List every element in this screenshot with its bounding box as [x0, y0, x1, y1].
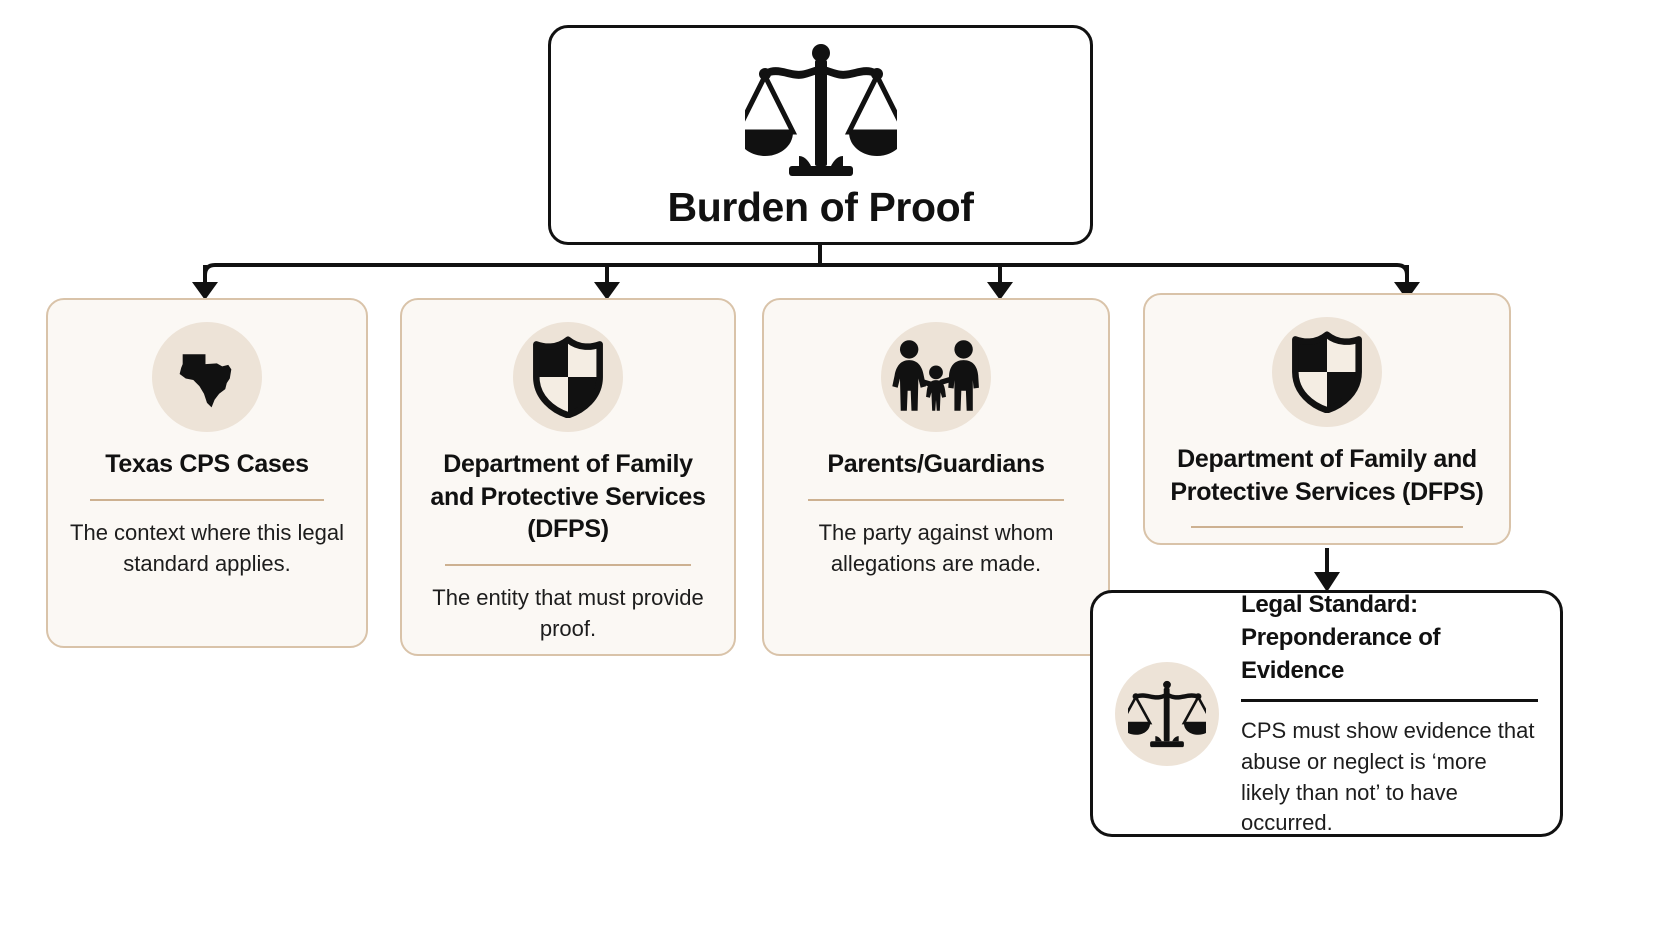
scales-of-justice-icon	[741, 40, 901, 180]
node-card-parents-guardians[interactable]: Parents/Guardians The party against whom…	[762, 298, 1110, 656]
node-card-description: The entity that must provide proof.	[422, 582, 714, 644]
scales-of-justice-icon	[1115, 662, 1219, 766]
leaf-card-body: Legal Standard: Preponderance of Evidenc…	[1241, 588, 1538, 840]
leaf-card-title: Legal Standard: Preponderance of Evidenc…	[1241, 588, 1538, 687]
node-card-title: Department of Family and Protective Serv…	[422, 448, 714, 546]
node-card-texas-cps-cases[interactable]: Texas CPS Cases The context where this l…	[46, 298, 368, 648]
leaf-card-legal-standard[interactable]: Legal Standard: Preponderance of Evidenc…	[1090, 590, 1563, 837]
node-card-description: The party against whom allegations are m…	[784, 517, 1088, 579]
card-divider	[808, 499, 1063, 501]
texas-state-map-icon	[152, 322, 262, 432]
quartered-shield-icon	[1272, 317, 1382, 427]
root-node[interactable]: Burden of Proof	[548, 25, 1093, 245]
quartered-shield-icon	[513, 322, 623, 432]
leaf-card-description: CPS must show evidence that abuse or neg…	[1241, 716, 1538, 839]
node-card-title: Department of Family and Protective Serv…	[1165, 443, 1489, 508]
card-divider	[1191, 526, 1463, 528]
family-group-icon	[881, 322, 991, 432]
node-card-title: Parents/Guardians	[827, 448, 1044, 481]
card-divider	[90, 499, 324, 501]
diagram-canvas: Burden of Proof Texas CPS Cases The cont…	[0, 0, 1672, 941]
card-divider	[445, 564, 690, 566]
node-card-title: Texas CPS Cases	[105, 448, 309, 481]
root-node-title: Burden of Proof	[667, 184, 973, 231]
leaf-card-divider	[1241, 699, 1538, 702]
node-card-description: The context where this legal standard ap…	[68, 517, 346, 579]
leaf-icon-wrap	[1115, 662, 1219, 766]
node-card-dfps-burden-holder[interactable]: Department of Family and Protective Serv…	[400, 298, 736, 656]
node-card-dfps-second[interactable]: Department of Family and Protective Serv…	[1143, 293, 1511, 545]
